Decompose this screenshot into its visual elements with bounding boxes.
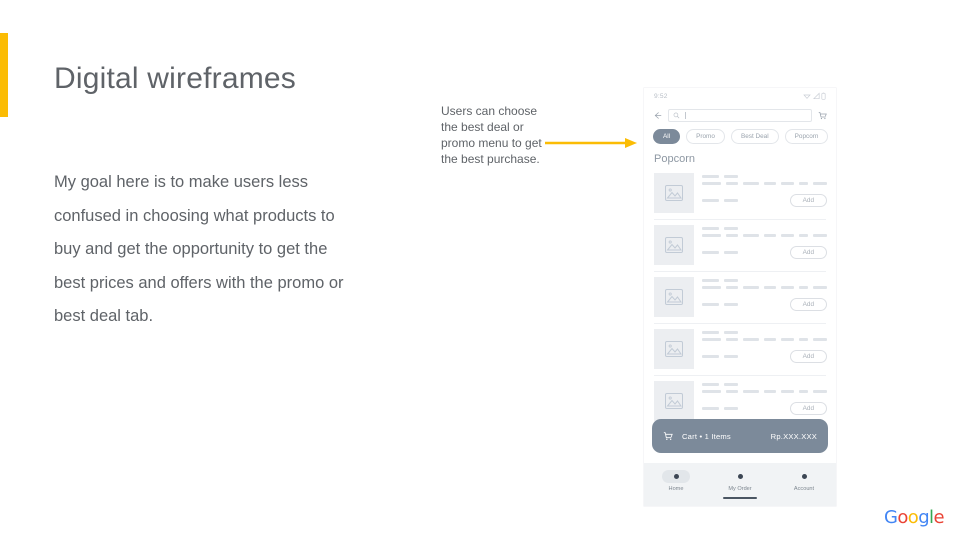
nav-item-label: Account — [794, 486, 814, 492]
product-price-placeholder — [702, 355, 738, 358]
add-to-cart-button[interactable]: Add — [790, 402, 827, 415]
logo-letter: e — [933, 507, 943, 528]
product-row[interactable]: Add — [654, 220, 826, 272]
back-arrow-icon[interactable] — [653, 111, 662, 120]
bottom-navigation: Home My Order Account — [644, 463, 836, 506]
product-info: Add — [702, 329, 827, 369]
product-price-placeholder — [702, 303, 738, 306]
image-placeholder-icon — [662, 389, 686, 413]
add-to-cart-button[interactable]: Add — [790, 194, 827, 207]
page-title: Digital wireframes — [54, 62, 296, 96]
product-footer: Add — [702, 402, 827, 415]
battery-icon — [821, 92, 826, 100]
annotation-arrow-icon — [545, 136, 637, 150]
product-thumbnail — [654, 277, 694, 317]
product-thumbnail — [654, 381, 694, 421]
add-button-label: Add — [803, 249, 814, 256]
filter-chip-label: Popcorn — [795, 133, 819, 140]
logo-letter: g — [918, 507, 929, 528]
nav-item-account[interactable]: Account — [772, 470, 836, 498]
status-bar: 9:52 — [644, 88, 836, 104]
add-to-cart-button[interactable]: Add — [790, 350, 827, 363]
nav-item-home[interactable]: Home — [644, 470, 708, 498]
status-time: 9:52 — [654, 93, 668, 100]
product-title-placeholder — [702, 175, 827, 178]
product-title-placeholder — [702, 227, 827, 230]
image-placeholder-icon — [662, 181, 686, 205]
cart-icon[interactable] — [818, 111, 827, 120]
product-row[interactable]: Add — [654, 324, 826, 376]
text-cursor — [685, 112, 686, 119]
product-info: Add — [702, 277, 827, 317]
product-footer: Add — [702, 194, 827, 207]
product-desc-placeholder — [702, 286, 827, 289]
product-title-placeholder — [702, 383, 827, 386]
product-info: Add — [702, 225, 827, 265]
product-desc-placeholder — [702, 338, 827, 341]
product-desc-placeholder — [702, 234, 827, 237]
search-bar — [644, 104, 836, 126]
account-icon — [790, 470, 818, 483]
filter-chip-best-deal[interactable]: Best Deal — [731, 129, 779, 144]
product-title-placeholder — [702, 331, 827, 334]
add-button-label: Add — [803, 301, 814, 308]
slide-canvas: Digital wireframes My goal here is to ma… — [0, 0, 960, 540]
orders-icon — [726, 470, 754, 483]
product-footer: Add — [702, 246, 827, 259]
product-info: Add — [702, 381, 827, 421]
status-icons — [803, 92, 826, 100]
logo-letter: o — [908, 507, 918, 528]
add-button-label: Add — [803, 405, 814, 412]
nav-item-my-order[interactable]: My Order — [708, 470, 772, 498]
image-placeholder-icon — [662, 285, 686, 309]
filter-chip-label: Best Deal — [741, 133, 769, 140]
product-row[interactable]: Add — [654, 168, 826, 220]
product-desc-placeholder — [702, 182, 827, 185]
cart-price: Rp.XXX.XXX — [771, 432, 817, 441]
product-thumbnail — [654, 225, 694, 265]
wifi-icon — [803, 92, 811, 100]
filter-chip-group: All Promo Best Deal Popcorn — [644, 126, 836, 144]
filter-chip-label: Promo — [696, 133, 715, 140]
product-list: AddAddAddAddAdd — [644, 168, 836, 428]
body-paragraph: My goal here is to make users less confu… — [54, 166, 354, 334]
filter-chip-label: All — [663, 133, 670, 140]
search-input[interactable] — [668, 109, 812, 122]
product-row[interactable]: Add — [654, 272, 826, 324]
nav-item-label: My Order — [728, 486, 751, 492]
logo-letter: G — [884, 507, 897, 528]
product-title-placeholder — [702, 279, 827, 282]
home-icon — [662, 470, 690, 483]
product-footer: Add — [702, 298, 827, 311]
cart-summary-bar[interactable]: Cart • 1 Items Rp.XXX.XXX — [652, 419, 828, 453]
annotation-text: Users can choose the best deal or promo … — [441, 103, 546, 167]
image-placeholder-icon — [662, 233, 686, 257]
add-to-cart-button[interactable]: Add — [790, 298, 827, 311]
product-price-placeholder — [702, 407, 738, 410]
product-thumbnail — [654, 173, 694, 213]
cart-icon — [663, 431, 673, 441]
product-thumbnail — [654, 329, 694, 369]
product-info: Add — [702, 173, 827, 213]
filter-chip-promo[interactable]: Promo — [686, 129, 725, 144]
logo-letter: o — [897, 507, 907, 528]
nav-underline — [723, 497, 757, 499]
image-placeholder-icon — [662, 337, 686, 361]
cart-label: Cart • 1 Items — [682, 432, 731, 441]
product-footer: Add — [702, 350, 827, 363]
signal-icon — [813, 92, 820, 100]
product-price-placeholder — [702, 251, 738, 254]
filter-chip-popcorn[interactable]: Popcorn — [785, 129, 829, 144]
nav-item-label: Home — [669, 486, 684, 492]
filter-chip-all[interactable]: All — [653, 129, 680, 144]
product-price-placeholder — [702, 199, 738, 202]
add-button-label: Add — [803, 197, 814, 204]
google-logo: Google — [884, 507, 944, 528]
product-desc-placeholder — [702, 390, 827, 393]
search-icon — [673, 112, 680, 119]
add-button-label: Add — [803, 353, 814, 360]
section-title: Popcorn — [644, 144, 836, 168]
add-to-cart-button[interactable]: Add — [790, 246, 827, 259]
title-accent-bar — [0, 33, 8, 117]
